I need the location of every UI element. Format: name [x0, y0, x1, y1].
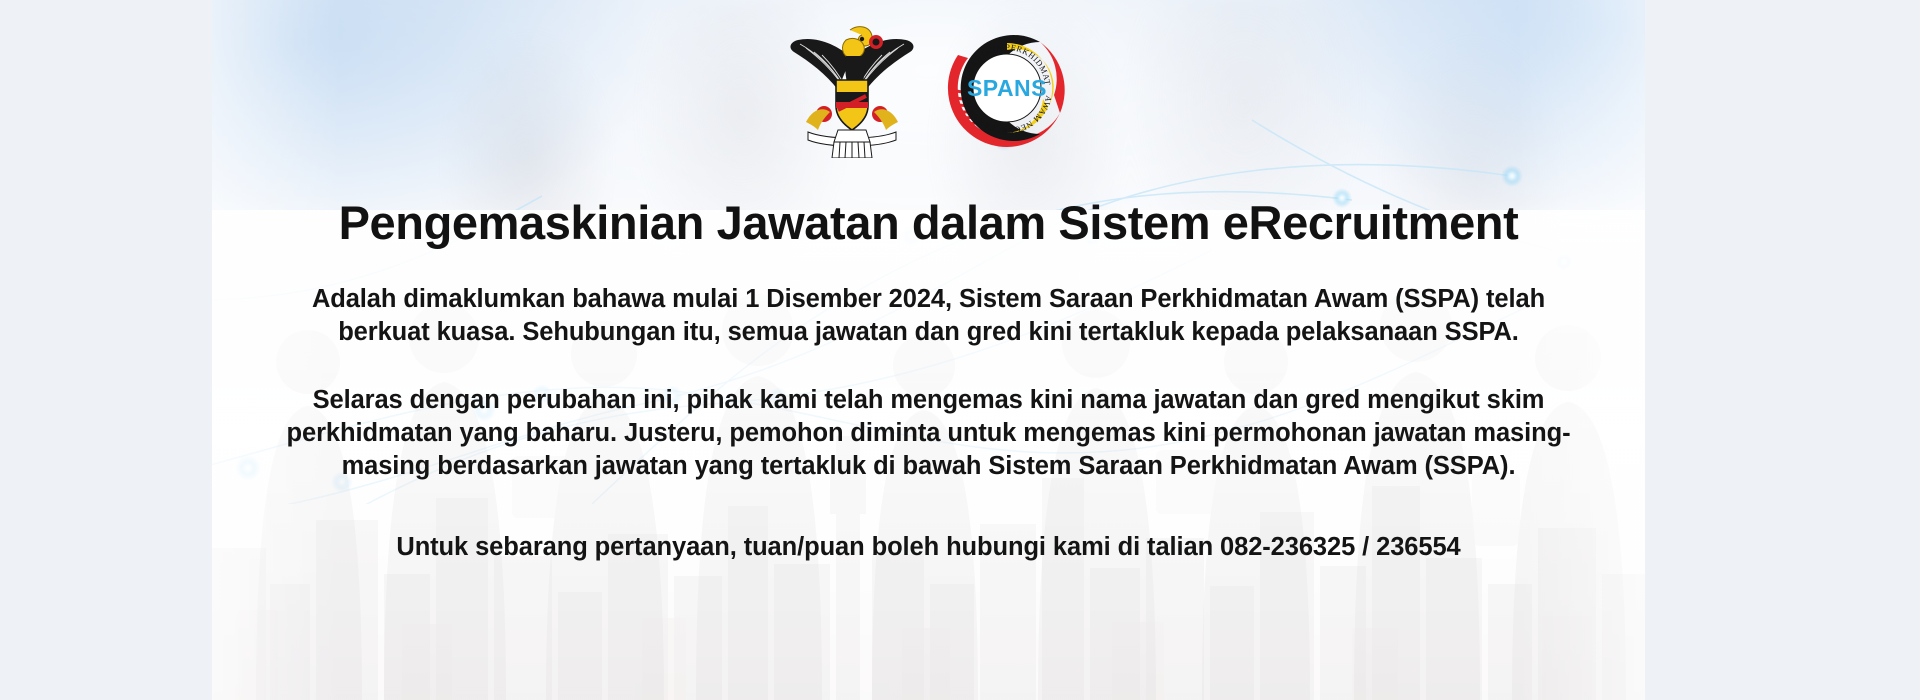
- logo-row: SURUHANJAYA PERKHIDMATAN AWAM NEGERI SAR…: [788, 18, 1070, 158]
- announcement-banner: SURUHANJAYA PERKHIDMATAN AWAM NEGERI SAR…: [212, 0, 1645, 700]
- banner-content: SURUHANJAYA PERKHIDMATAN AWAM NEGERI SAR…: [212, 0, 1645, 700]
- spans-logo-icon: SURUHANJAYA PERKHIDMATAN AWAM NEGERI SAR…: [944, 25, 1070, 151]
- svg-text:SPANS: SPANS: [966, 75, 1046, 101]
- sarawak-coat-of-arms-icon: [788, 18, 916, 158]
- contact-line: Untuk sebarang pertanyaan, tuan/puan bol…: [396, 533, 1460, 562]
- page-root: SURUHANJAYA PERKHIDMATAN AWAM NEGERI SAR…: [0, 0, 1920, 700]
- announcement-paragraph-1: Adalah dimaklumkan bahawa mulai 1 Disemb…: [284, 283, 1574, 349]
- announcement-paragraph-2: Selaras dengan perubahan ini, pihak kami…: [284, 384, 1574, 483]
- page-title: Pengemaskinian Jawatan dalam Sistem eRec…: [339, 198, 1519, 247]
